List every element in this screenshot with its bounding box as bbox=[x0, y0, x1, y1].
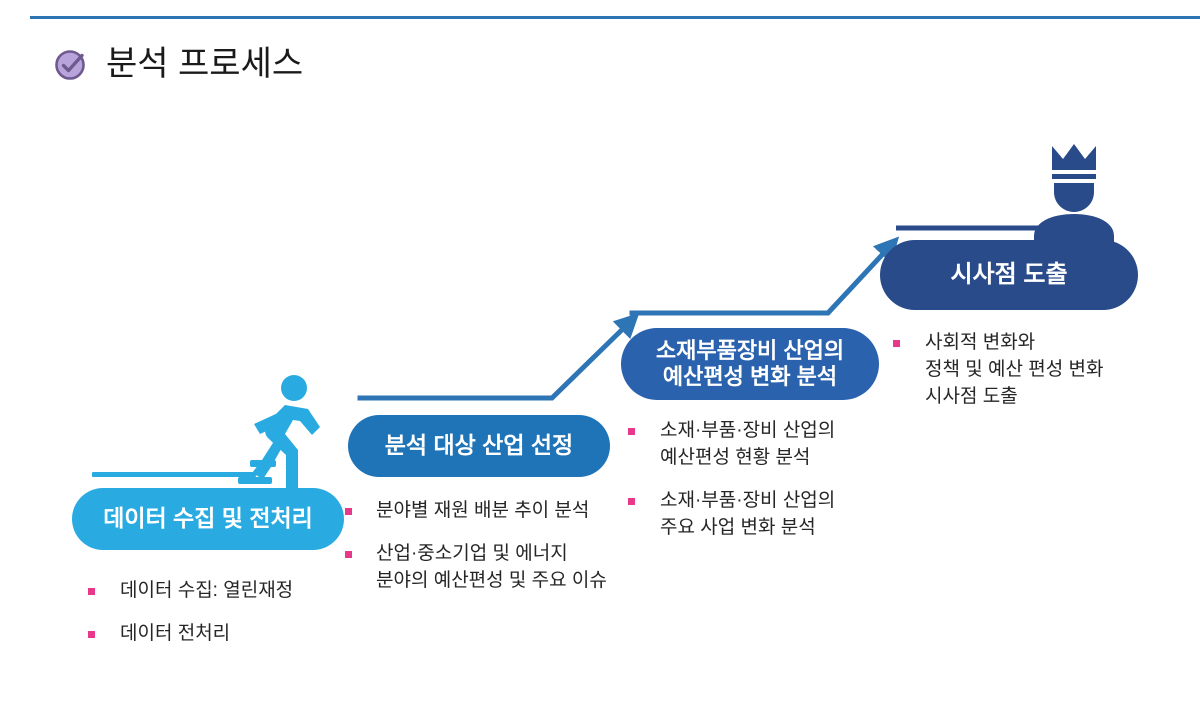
step4-bullet-list: 사회적 변화와 정책 및 예산 편성 변화 시사점 도출 bbox=[893, 330, 1173, 427]
step4-label[interactable]: 시사점 도출 bbox=[880, 240, 1138, 310]
bullet-square-icon bbox=[893, 340, 900, 347]
bullet-text: 분야별 재원 배분 추이 분석 bbox=[376, 498, 589, 525]
bullet-text: 사회적 변화와 정책 및 예산 편성 변화 시사점 도출 bbox=[925, 330, 1103, 411]
bullet-square-icon bbox=[628, 428, 635, 435]
step-2[interactable]: 분석 대상 산업 선정 bbox=[348, 415, 610, 477]
step1-bullet-list: 데이터 수집: 열린재정 데이터 전처리 bbox=[88, 578, 358, 664]
bullet-text: 산업·중소기업 및 에너지 분야의 예산편성 및 주요 이슈 bbox=[376, 541, 607, 595]
arrow-step2-step3 bbox=[632, 242, 894, 313]
step2-label[interactable]: 분석 대상 산업 선정 bbox=[348, 415, 610, 477]
step2-bullet-list: 분야별 재원 배분 추이 분석 산업·중소기업 및 에너지 분야의 예산편성 및… bbox=[345, 498, 645, 611]
step3-label[interactable]: 소재부품장비 산업의 예산편성 변화 분석 bbox=[621, 328, 879, 400]
step3-label-line2: 예산편성 변화 분석 bbox=[663, 364, 837, 390]
bullet-text: 소재·부품·장비 산업의 예산편성 현황 분석 bbox=[660, 418, 835, 472]
circle-check-icon bbox=[52, 44, 92, 84]
bullet-text: 데이터 전처리 bbox=[120, 621, 230, 648]
arrow-step1-step2 bbox=[360, 318, 634, 398]
list-item: 산업·중소기업 및 에너지 분야의 예산편성 및 주요 이슈 bbox=[345, 541, 645, 595]
bullet-square-icon bbox=[628, 498, 635, 505]
list-item: 데이터 전처리 bbox=[88, 621, 358, 648]
step1-label[interactable]: 데이터 수집 및 전처리 bbox=[72, 488, 344, 550]
step3-bullet-list: 소재·부품·장비 산업의 예산편성 현황 분석 소재·부품·장비 산업의 주요 … bbox=[628, 418, 898, 558]
step1-platform-line bbox=[92, 472, 256, 477]
bullet-text: 소재·부품·장비 산업의 주요 사업 변화 분석 bbox=[660, 488, 835, 542]
list-item: 데이터 수집: 열린재정 bbox=[88, 578, 358, 605]
bullet-square-icon bbox=[88, 631, 95, 638]
list-item: 소재·부품·장비 산업의 예산편성 현황 분석 bbox=[628, 418, 898, 472]
bullet-square-icon bbox=[345, 551, 352, 558]
step-1[interactable]: 데이터 수집 및 전처리 bbox=[72, 488, 344, 550]
step3-label-line1: 소재부품장비 산업의 bbox=[656, 338, 844, 364]
list-item: 사회적 변화와 정책 및 예산 편성 변화 시사점 도출 bbox=[893, 330, 1173, 411]
step-3[interactable]: 소재부품장비 산업의 예산편성 변화 분석 bbox=[621, 328, 879, 400]
list-item: 소재·부품·장비 산업의 주요 사업 변화 분석 bbox=[628, 488, 898, 542]
page-title: 분석 프로세스 bbox=[106, 47, 303, 81]
bullet-text: 데이터 수집: 열린재정 bbox=[120, 578, 293, 605]
list-item: 분야별 재원 배분 추이 분석 bbox=[345, 498, 645, 525]
slide-canvas: 분석 프로세스 bbox=[0, 0, 1200, 702]
slide-title-row: 분석 프로세스 bbox=[52, 44, 303, 84]
step-4[interactable]: 시사점 도출 bbox=[880, 240, 1138, 310]
header-rule bbox=[30, 16, 1200, 19]
bullet-square-icon bbox=[345, 508, 352, 515]
bullet-square-icon bbox=[88, 588, 95, 595]
king-figure-icon bbox=[1030, 140, 1136, 250]
